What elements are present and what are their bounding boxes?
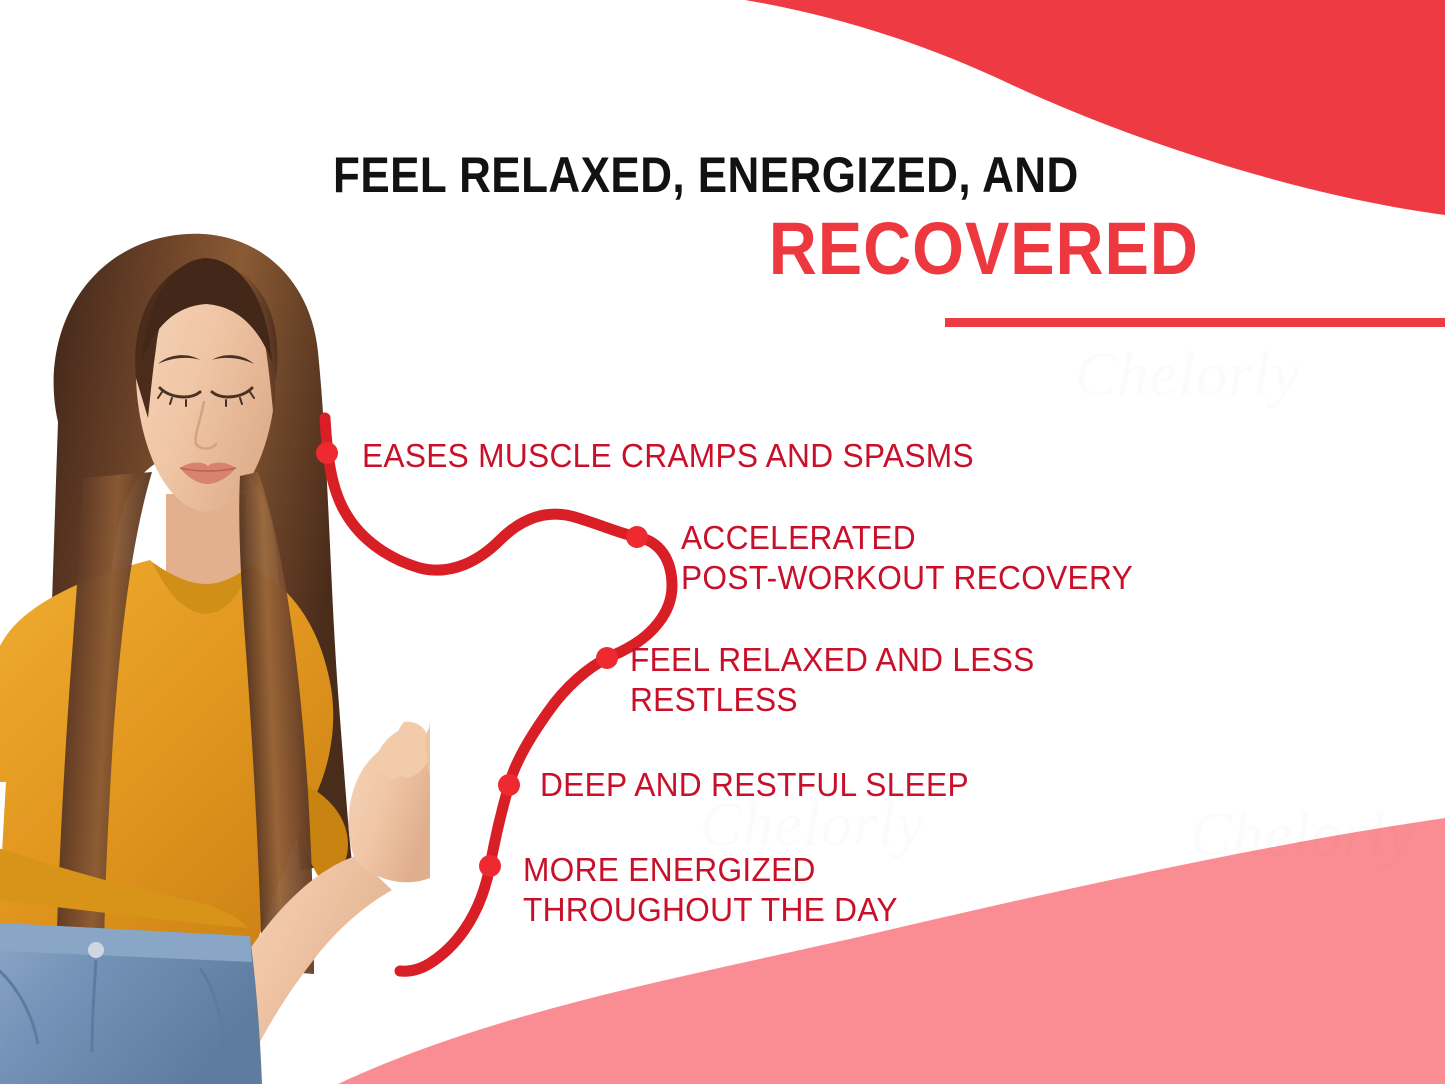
watermark-text: Chelorly <box>1075 340 1300 411</box>
benefit-label: ACCELERATED POST-WORKOUT RECOVERY <box>681 518 1133 598</box>
benefit-dot <box>626 526 648 548</box>
benefit-label: DEEP AND RESTFUL SLEEP <box>540 765 969 805</box>
promo-banner: Chelorly Chelorly Chelorly <box>0 0 1445 1084</box>
benefit-dot <box>479 855 501 877</box>
headline: FEEL RELAXED, ENERGIZED, AND RECOVERED <box>333 148 1233 288</box>
woman-meditating-photo <box>0 222 430 1084</box>
watermark-text: Chelorly <box>1190 800 1415 871</box>
benefit-label: EASES MUSCLE CRAMPS AND SPASMS <box>362 436 974 476</box>
headline-line-2: RECOVERED <box>423 210 1233 288</box>
benefit-label: MORE ENERGIZED THROUGHOUT THE DAY <box>523 850 898 930</box>
benefit-dot <box>596 647 618 669</box>
headline-underline-rule <box>945 318 1445 327</box>
headline-line-1: FEEL RELAXED, ENERGIZED, AND <box>333 148 1125 202</box>
benefit-label: FEEL RELAXED AND LESS RESTLESS <box>630 640 1035 720</box>
jeans-button <box>88 942 104 958</box>
benefit-dot <box>498 774 520 796</box>
